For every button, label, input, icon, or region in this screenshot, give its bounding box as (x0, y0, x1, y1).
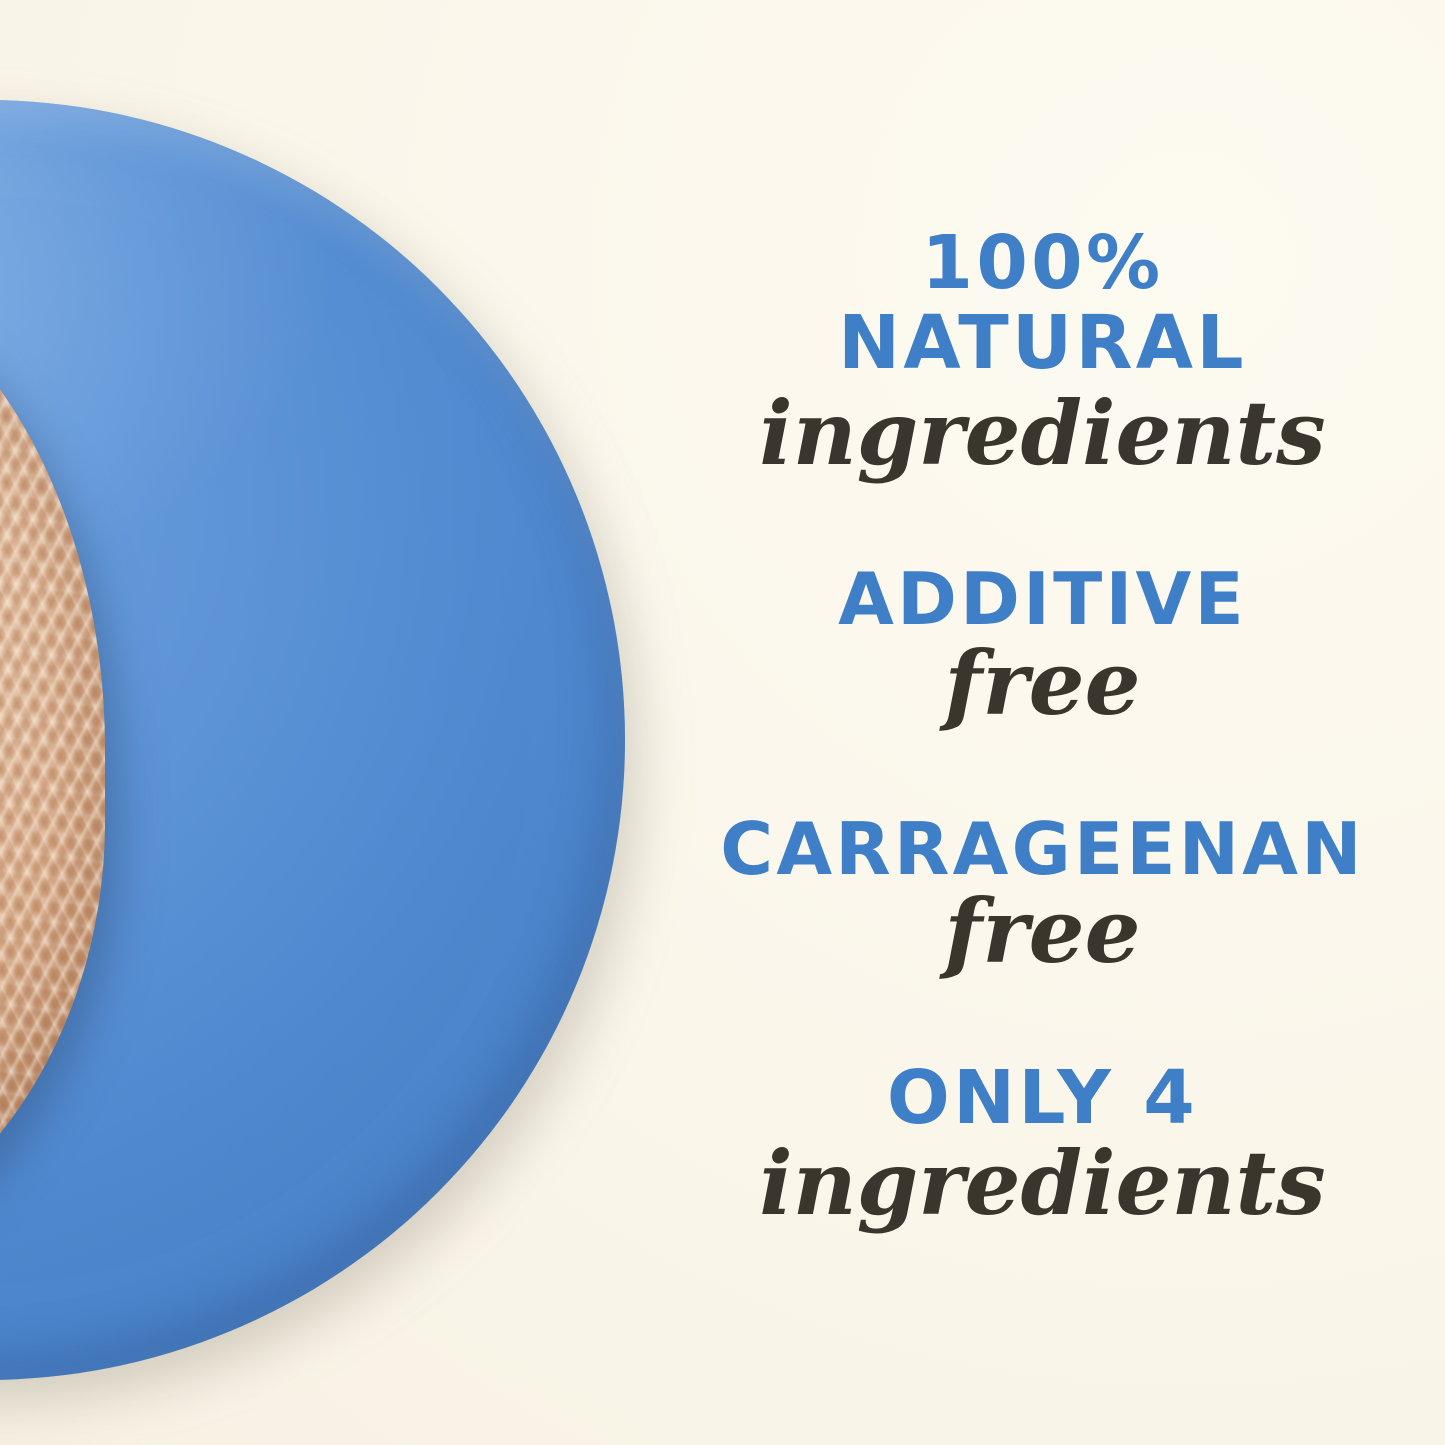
plate-photo (0, 100, 625, 1380)
claim-subline: free (944, 639, 1140, 727)
claim-headline-line: ONLY 4 (887, 1061, 1198, 1135)
claim-headline-line: CARRAGEENAN (720, 813, 1365, 885)
food-body (0, 250, 105, 1270)
shredded-meat-mound (0, 250, 105, 1270)
product-benefits-panel: 100% NATURAL ingredients ADDITIVE free C… (0, 0, 1445, 1445)
claim-headline-line: NATURAL (838, 304, 1247, 383)
claim-subline: ingredients (759, 389, 1325, 477)
claim-only-4-ingredients: ONLY 4 ingredients (759, 1061, 1325, 1227)
claim-natural-ingredients: 100% NATURAL ingredients (759, 224, 1325, 476)
claim-headline: ADDITIVE (838, 563, 1247, 635)
food-chunk-highlights (0, 250, 105, 1270)
claim-additive-free: ADDITIVE free (838, 563, 1247, 727)
benefit-claims-list: 100% NATURAL ingredients ADDITIVE free C… (640, 0, 1445, 1445)
claim-subline: free (944, 887, 1140, 975)
claim-carrageenan-free: CARRAGEENAN free (720, 813, 1365, 975)
claim-headline: ONLY 4 (887, 1061, 1198, 1135)
claim-headline: CARRAGEENAN (720, 813, 1365, 885)
claim-headline-line: ADDITIVE (838, 563, 1247, 635)
claim-headline-line: 100% (838, 224, 1247, 303)
claim-subline: ingredients (759, 1139, 1325, 1227)
claim-headline: 100% NATURAL (838, 224, 1247, 382)
